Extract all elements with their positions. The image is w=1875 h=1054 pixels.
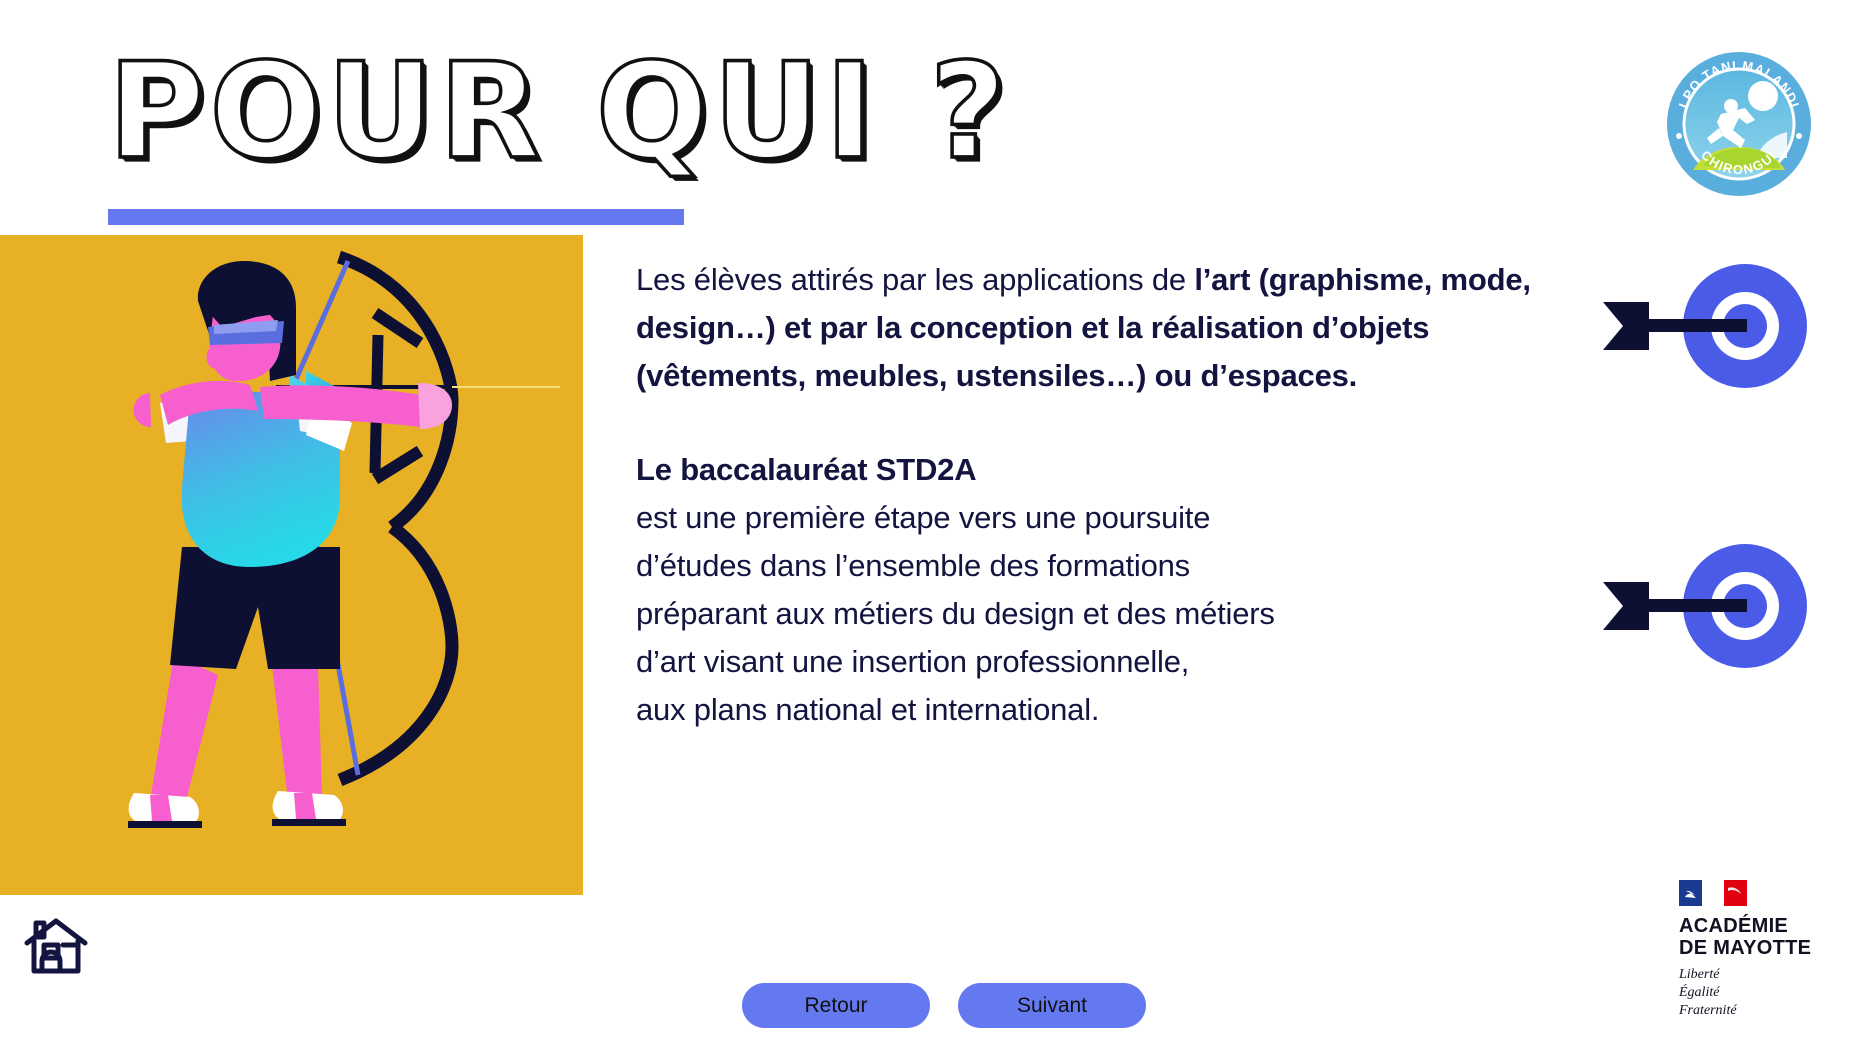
paragraph-2-line-5: aux plans national et international. <box>636 686 1536 734</box>
motto-fraternite: Fraternité <box>1679 1002 1829 1020</box>
paragraph-2-heading: Le baccalauréat STD2A <box>636 446 1536 494</box>
paragraph-2-line-2: d’études dans l’ensemble des formations <box>636 542 1536 590</box>
motto-liberte: Liberté <box>1679 966 1829 984</box>
home-icon[interactable] <box>22 915 90 982</box>
motto-egalite: Égalité <box>1679 984 1829 1002</box>
target-arrow-icon <box>1597 262 1821 395</box>
paragraph-2-line-3: préparant aux métiers du design et des m… <box>636 590 1536 638</box>
page-title-block: POUR QUI ? <box>108 46 708 158</box>
paragraph-1-lead: Les élèves attirés par les applications … <box>636 262 1194 297</box>
academie-line-2: DE MAYOTTE <box>1679 937 1829 959</box>
paragraph-1: Les élèves attirés par les applications … <box>636 256 1536 400</box>
next-button[interactable]: Suivant <box>958 983 1146 1028</box>
archer-illustration <box>0 235 583 895</box>
page-title: POUR QUI ? <box>108 46 816 178</box>
title-underline-bar <box>108 209 684 225</box>
paragraph-2-line-4: d’art visant une insertion professionnel… <box>636 638 1536 686</box>
slide-root: POUR QUI ? <box>0 0 1875 1054</box>
school-logo-lpo-tani-malandi: LPO TANI MALANDI CHIRONGUI <box>1663 48 1815 205</box>
academie-line-1: ACADÉMIE <box>1679 915 1829 937</box>
navigation-buttons: Retour Suivant <box>742 983 1146 1028</box>
french-republic-flag-icon <box>1679 880 1747 906</box>
body-text-block: Les élèves attirés par les applications … <box>636 256 1536 734</box>
academie-de-mayotte-logo: ACADÉMIE DE MAYOTTE Liberté Égalité Frat… <box>1679 880 1829 1020</box>
paragraph-spacer <box>636 400 1536 446</box>
target-arrow-icon <box>1597 542 1821 675</box>
back-button[interactable]: Retour <box>742 983 930 1028</box>
paragraph-2-line-1: est une première étape vers une poursuit… <box>636 494 1536 542</box>
archer-illustration-panel <box>0 235 583 895</box>
